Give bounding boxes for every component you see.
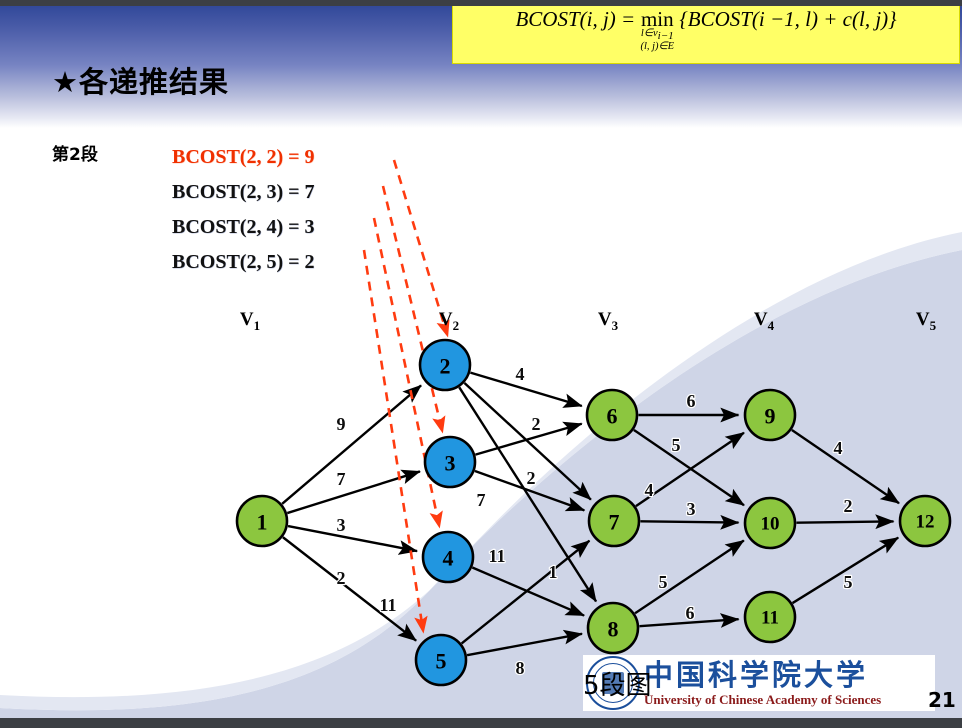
edge-weight-8-11: 6 — [686, 603, 695, 623]
graph-edge-1-5 — [283, 537, 416, 640]
graph-node-5[interactable]: 5 — [416, 635, 466, 685]
formula-lhs: BCOST(i, j) = — [515, 7, 635, 31]
edge-weight-7-9: 4 — [645, 480, 654, 500]
stage-label-v1: V1 — [240, 309, 260, 333]
graph-node-label-5: 5 — [436, 649, 447, 674]
graph-edge-10-12 — [796, 521, 893, 522]
edge-weight-2-8: 11 — [488, 546, 505, 566]
edge-weight-3-6: 2 — [532, 414, 541, 434]
stage-label-v3: V3 — [598, 309, 619, 333]
stage-label: 第2段 — [52, 140, 98, 165]
bcost-line-0: BCOST(2, 2) = 9 — [172, 140, 315, 175]
edge-weight-1-2: 9 — [337, 414, 346, 434]
page-number: 21 — [928, 688, 956, 712]
graph-stage-labels: V1V2V3V4V5 — [240, 309, 937, 333]
annotation-arrow-to-node-2 — [394, 160, 447, 334]
graph-node-label-6: 6 — [607, 404, 618, 429]
graph-node-label-12: 12 — [916, 512, 935, 533]
edge-weight-1-5: 2 — [337, 568, 346, 588]
graph-node-7[interactable]: 7 — [589, 496, 639, 546]
graph-node-label-8: 8 — [608, 617, 619, 642]
graph-node-11[interactable]: 11 — [745, 592, 795, 642]
graph-node-6[interactable]: 6 — [587, 390, 637, 440]
graph-edge-2-6 — [470, 373, 581, 406]
graph-edge-11-12 — [793, 538, 899, 603]
edge-weight-4-8: 11 — [379, 595, 396, 615]
formula-min-sub1-text: l∈v — [641, 28, 658, 39]
formula-text: BCOST(i, j) = min l∈vi−1 (l, j)∈E {BCOST… — [515, 5, 896, 52]
graph-node-3[interactable]: 3 — [425, 437, 475, 487]
graph-node-8[interactable]: 8 — [588, 603, 638, 653]
edge-weight-2-6: 4 — [516, 364, 525, 384]
edge-weight-6-9: 6 — [687, 391, 696, 411]
edge-weight-2-7: 2 — [527, 468, 536, 488]
stage-label-v2: V2 — [439, 309, 459, 333]
bcost-result-list: BCOST(2, 2) = 9 BCOST(2, 3) = 7 BCOST(2,… — [172, 140, 315, 280]
graph-node-label-1: 1 — [257, 510, 268, 535]
stage-label-v5: V5 — [916, 309, 937, 333]
formula-min-operator: min l∈vi−1 (l, j)∈E — [640, 8, 674, 52]
formula-rhs: {BCOST(i −1, l) + c(l, j)} — [679, 7, 896, 31]
edge-weight-9-12: 4 — [834, 438, 843, 458]
graph-node-label-11: 11 — [761, 608, 779, 629]
graph-edge-4-8 — [472, 567, 584, 615]
bcost-line-1: BCOST(2, 3) = 7 — [172, 175, 315, 210]
logo-chinese-name: 中国科学院大学 — [644, 661, 881, 690]
slide-canvas: BCOST(i, j) = min l∈vi−1 (l, j)∈E {BCOST… — [0, 0, 962, 728]
graph-node-10[interactable]: 10 — [745, 498, 795, 548]
graph-edge-5-7 — [462, 541, 590, 644]
graph-edge-9-12 — [792, 430, 899, 503]
edge-weight-1-3: 7 — [337, 469, 346, 489]
edge-weight-5-8: 8 — [516, 658, 525, 678]
graph-node-9[interactable]: 9 — [745, 390, 795, 440]
graph-edge-1-4 — [288, 526, 417, 551]
edge-weight-3-7: 7 — [477, 490, 486, 510]
logo-english-name: University of Chinese Academy of Science… — [644, 693, 881, 706]
graph-node-label-2: 2 — [440, 354, 451, 379]
edge-weight-8-10: 5 — [659, 572, 668, 592]
window-top-bar — [0, 0, 962, 6]
bcost-line-3: BCOST(2, 5) = 2 — [172, 245, 315, 280]
graph-node-2[interactable]: 2 — [420, 340, 470, 390]
page-title: ★各递推结果 — [52, 59, 229, 101]
graph-node-label-7: 7 — [609, 510, 620, 535]
graph-node-4[interactable]: 4 — [423, 532, 473, 582]
graph-node-label-3: 3 — [445, 451, 456, 476]
multistage-graph: 123456789101112 97324211271118654356425 … — [0, 0, 962, 728]
edge-weight-10-12: 2 — [844, 496, 853, 516]
edge-weight-6-10: 5 — [672, 435, 681, 455]
logo-text: 中国科学院大学 University of Chinese Academy of… — [644, 661, 881, 706]
formula-box: BCOST(i, j) = min l∈vi−1 (l, j)∈E {BCOST… — [452, 4, 960, 64]
edge-weight-1-4: 3 — [337, 515, 346, 535]
window-bottom-bar — [0, 718, 962, 728]
stage-label-v4: V4 — [754, 309, 775, 333]
graph-node-1[interactable]: 1 — [237, 496, 287, 546]
bcost-line-2: BCOST(2, 4) = 3 — [172, 210, 315, 245]
edge-weight-11-12: 5 — [844, 572, 853, 592]
graph-node-label-4: 4 — [443, 546, 454, 571]
graph-node-label-10: 10 — [761, 514, 780, 535]
annotation-arrow-to-node-5 — [364, 250, 423, 630]
diagram-caption: 5段图 — [583, 665, 652, 702]
graph-edge-7-10 — [640, 521, 738, 522]
formula-min-sub2: (l, j)∈E — [640, 41, 674, 52]
edge-weight-5-7: 1 — [549, 562, 558, 582]
graph-node-12[interactable]: 12 — [900, 496, 950, 546]
graph-node-label-9: 9 — [765, 404, 776, 429]
graph-edge-1-2 — [282, 385, 421, 503]
graph-edge-5-8 — [467, 634, 582, 655]
edge-weight-7-10: 3 — [687, 499, 696, 519]
